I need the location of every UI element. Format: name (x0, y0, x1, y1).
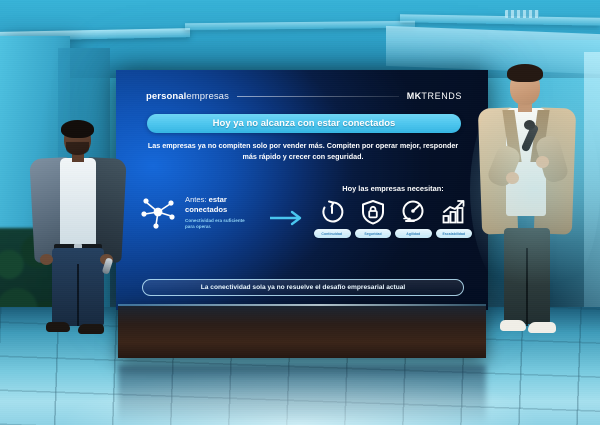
header-divider (237, 96, 399, 97)
slide-footer-text: La conectividad sola ya no resuelve el d… (201, 284, 406, 291)
slide-header: personalempresas MKTRENDS (146, 88, 462, 104)
before-label-strong: estar (209, 195, 227, 204)
before-state-block: Antes: estar conectados Conectividad era… (138, 192, 246, 232)
presenter-left-shirt (60, 158, 96, 246)
slide-paragraph: Las empresas ya no compiten solo por ven… (142, 140, 464, 162)
before-state-text: Antes: estar conectados Conectividad era… (185, 192, 246, 230)
personal-empresas-logo: personalempresas (146, 91, 229, 102)
power-refresh-icon (319, 199, 345, 225)
presenter-right-shoe-right (528, 322, 556, 333)
before-state-title: Antes: estar conectados (185, 195, 246, 215)
arrow-right-icon (268, 210, 308, 226)
screen-base-stand (118, 306, 486, 358)
need-item-seguridad: Seguridad (355, 199, 392, 238)
presenter-right-hand-right (536, 156, 549, 168)
presenter-right-microphone-head (524, 120, 535, 130)
need-pill-seguridad: Seguridad (355, 229, 392, 238)
network-nodes-icon (138, 192, 178, 232)
needs-title: Hoy las empresas necesitan: (312, 184, 474, 193)
slide-footer-banner: La conectividad sola ya no resuelve el d… (142, 279, 464, 296)
screen-floor-reflection (118, 365, 486, 425)
growth-chart-icon (441, 199, 467, 225)
presenter-left-leg-seam (77, 264, 79, 326)
before-state-subtitle: Conectividad era suficiente para operar. (185, 218, 246, 230)
need-pill-agilidad: Agilidad (395, 229, 432, 238)
presenter-left-shoe-left (46, 322, 70, 332)
shield-lock-icon (360, 199, 386, 225)
presenter-left-shoe-right (78, 324, 104, 334)
slide-headline-text: Hoy ya no alcanza con estar conectados (213, 118, 396, 129)
presenter-right-hand-left (506, 172, 519, 184)
led-presentation-screen: personalempresas MKTRENDS Hoy ya no alca… (116, 70, 488, 310)
needs-block: Hoy las empresas necesitan: Continuidad (312, 184, 474, 238)
need-item-continuidad: Continuidad (314, 199, 351, 238)
presenter-left-hand-left (40, 254, 53, 265)
brand-secondary: empresas (186, 91, 229, 102)
presenter-right (476, 62, 588, 352)
need-item-escalabilidad: Escalabilidad (436, 199, 473, 238)
need-label-escalabilidad: Escalabilidad (442, 232, 465, 236)
need-item-agilidad: Agilidad (395, 199, 432, 238)
mktrends-logo: MKTRENDS (407, 91, 462, 101)
mktrends-bold: MK (407, 91, 422, 101)
speedometer-icon (400, 199, 426, 225)
need-label-continuidad: Continuidad (322, 232, 343, 236)
before-label-prefix: Antes: (185, 195, 209, 204)
before-label-strong-2: conectados (185, 205, 227, 214)
presenter-right-shoe-left (500, 320, 526, 331)
presenter-left (24, 118, 134, 340)
need-pill-continuidad: Continuidad (314, 229, 351, 238)
need-label-seguridad: Seguridad (364, 232, 381, 236)
need-pill-escalabilidad: Escalabilidad (436, 229, 473, 238)
brand-primary: personal (146, 91, 186, 102)
presenter-left-beard (66, 142, 89, 155)
mktrends-light: TRENDS (421, 91, 462, 101)
presenter-left-hair (61, 120, 94, 138)
need-label-agilidad: Agilidad (406, 232, 420, 236)
event-stage-photo: personalempresas MKTRENDS Hoy ya no alca… (0, 0, 600, 425)
ceiling-vent-icon (505, 10, 539, 18)
presenter-right-hair (507, 64, 543, 82)
presenter-right-leg-seam (526, 248, 528, 326)
needs-row: Continuidad Seguridad (312, 199, 474, 238)
slide-headline-banner: Hoy ya no alcanza con estar conectados (147, 114, 461, 133)
